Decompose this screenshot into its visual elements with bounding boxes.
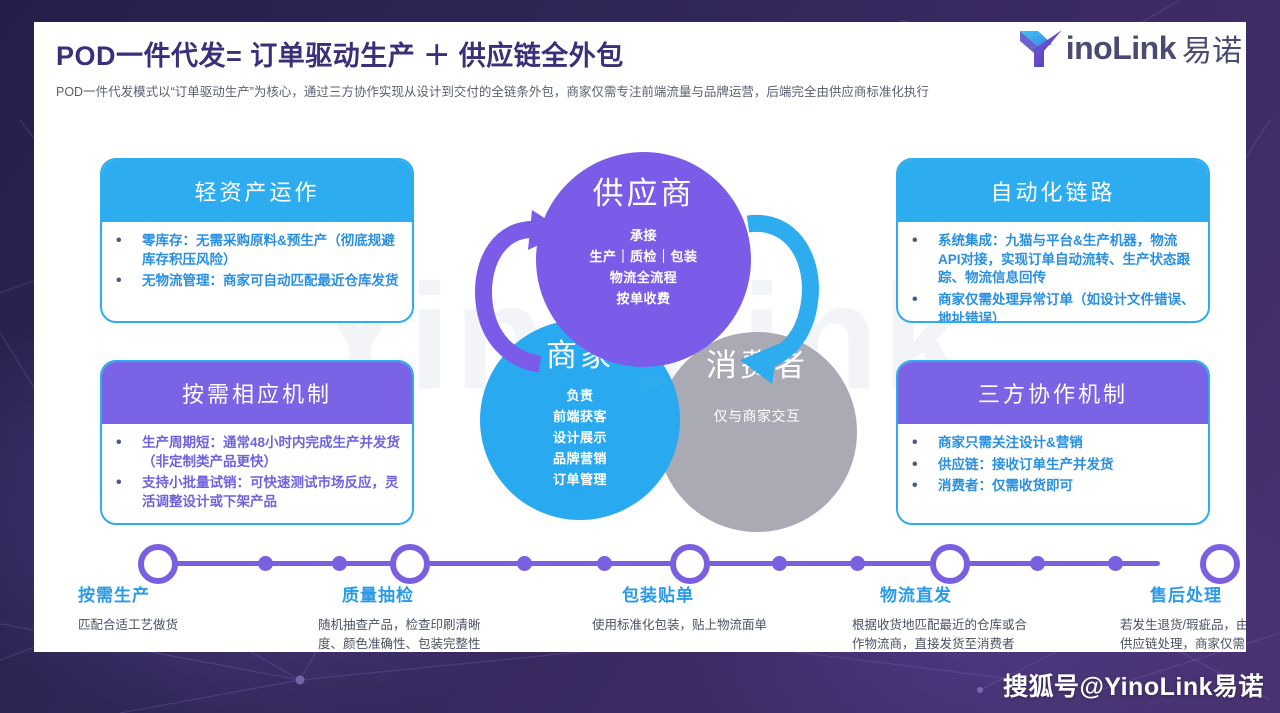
card-title-light-asset: 轻资产运作 (102, 160, 412, 222)
feature-card-on-demand: 按需相应机制 生产周期短：通常48小时内完成生产并发货（非定制类产品更快） 支持… (100, 360, 414, 525)
circle-consumer: 消费者 仅与商家交互 (657, 332, 857, 532)
page-subtitle: POD一件代发模式以“订单驱动生产”为核心，通过三方协作实现从设计到交付的全链条… (56, 82, 1106, 102)
venn-diagram: 供应商 承接 生产｜质检｜包装 物流全流程 按单收费 商家 负责 前端获客 设计… (454, 152, 874, 542)
circle-lines-merchant: 负责 前端获客 设计展示 品牌营销 订单管理 (553, 385, 607, 490)
timeline-node-2[interactable] (390, 544, 430, 584)
circle-line: 品牌营销 (553, 448, 607, 469)
feature-card-automation: 自动化链路 系统集成：九猫与平台&生产机器，物流API对接，实现订单自动流转、生… (896, 158, 1210, 323)
circle-line: 订单管理 (553, 469, 607, 490)
circle-line: 设计展示 (553, 427, 607, 448)
timeline-minor-dot (258, 556, 273, 571)
timeline-minor-dot (1108, 556, 1123, 571)
circle-line: 仅与商家交互 (714, 405, 801, 428)
timeline-step-1: 按需生产 匹配合适工艺做货 (78, 586, 278, 635)
card-body-tripartite: 商家只需关注设计&营销 供应链：接收订单生产并发货 消费者：仅需收货即可 (898, 424, 1208, 509)
timeline-minor-dot (597, 556, 612, 571)
list-item: 支持小批量试销：可快速测试市场反应，灵活调整设计或下架产品 (110, 474, 400, 511)
yino-y-logo-icon (1018, 27, 1064, 69)
card-title-on-demand: 按需相应机制 (102, 362, 412, 424)
timeline-node-3[interactable] (670, 544, 710, 584)
circle-line: 承接 (589, 225, 697, 246)
logo-wordmark-cn: 易诺 (1182, 26, 1242, 70)
timeline-step-desc: 若发生退货/瑕疵品，由供应链处理，商家仅需和客户沟通 (1120, 616, 1246, 652)
timeline-step-desc: 使用标准化包装，贴上物流面单 (592, 616, 772, 635)
timeline-track (138, 561, 1160, 566)
list-item: 零库存：无需采购原料&预生产（彻底规避库存积压风险） (110, 232, 400, 269)
card-body-light-asset: 零库存：无需采购原料&预生产（彻底规避库存积压风险） 无物流管理：商家可自动匹配… (102, 222, 412, 304)
card-title-tripartite: 三方协作机制 (898, 362, 1208, 424)
brand-logo: inoLink 易诺 (1018, 26, 1242, 70)
bottom-right-watermark: 搜狐号@YinoLink易诺 (1003, 667, 1264, 703)
timeline-node-1[interactable] (138, 544, 178, 584)
card-title-automation: 自动化链路 (898, 160, 1208, 222)
circle-line: 生产｜质检｜包装 (589, 246, 697, 267)
list-item: 无物流管理：商家可自动匹配最近仓库发货 (110, 272, 400, 291)
list-item: 商家只需关注设计&营销 (906, 434, 1196, 453)
card-body-on-demand: 生产周期短：通常48小时内完成生产并发货（非定制类产品更快） 支持小批量试销：可… (102, 424, 412, 525)
timeline-step-desc: 根据收货地匹配最近的仓库或合作物流商，直接发货至消费者 (852, 616, 1032, 652)
logo-wordmark: inoLink (1066, 32, 1176, 64)
timeline-step-desc: 匹配合适工艺做货 (78, 616, 258, 635)
list-item: 商家仅需处理异常订单（如设计文件错误、地址错误） (906, 291, 1196, 323)
timeline-minor-dot (332, 556, 347, 571)
circle-title-consumer: 消费者 (706, 350, 808, 383)
circle-supplier: 供应商 承接 生产｜质检｜包装 物流全流程 按单收费 (536, 152, 751, 367)
timeline-step-label: 按需生产 (78, 586, 278, 606)
process-timeline: 按需生产 匹配合适工艺做货 质量抽检 随机抽查产品，检查印刷清晰度、颜色准确性、… (62, 530, 1226, 650)
circle-lines-supplier: 承接 生产｜质检｜包装 物流全流程 按单收费 (589, 225, 697, 309)
timeline-minor-dot (1030, 556, 1045, 571)
circle-title-supplier: 供应商 (593, 178, 695, 211)
timeline-minor-dot (517, 556, 532, 571)
circle-line: 负责 (553, 385, 607, 406)
timeline-step-label: 包装贴单 (622, 586, 792, 606)
circle-line: 物流全流程 (589, 267, 697, 288)
timeline-step-label: 售后处理 (1150, 586, 1246, 606)
timeline-step-desc: 随机抽查产品，检查印刷清晰度、颜色准确性、包装完整性 (318, 616, 498, 652)
list-item: 系统集成：九猫与平台&生产机器，物流API对接，实现订单自动流转、生产状态跟踪、… (906, 232, 1196, 288)
timeline-step-2: 质量抽检 随机抽查产品，检查印刷清晰度、颜色准确性、包装完整性 (318, 586, 518, 652)
card-body-automation: 系统集成：九猫与平台&生产机器，物流API对接，实现订单自动流转、生产状态跟踪、… (898, 222, 1208, 323)
circle-line: 按单收费 (589, 288, 697, 309)
timeline-step-5: 售后处理 若发生退货/瑕疵品，由供应链处理，商家仅需和客户沟通 (1120, 586, 1246, 652)
timeline-step-3: 包装贴单 使用标准化包装，贴上物流面单 (592, 586, 792, 635)
timeline-node-4[interactable] (930, 544, 970, 584)
timeline-minor-dot (772, 556, 787, 571)
timeline-step-4: 物流直发 根据收货地匹配最近的仓库或合作物流商，直接发货至消费者 (852, 586, 1052, 652)
circle-lines-consumer: 仅与商家交互 (714, 405, 801, 428)
list-item: 生产周期短：通常48小时内完成生产并发货（非定制类产品更快） (110, 434, 400, 471)
timeline-step-label: 物流直发 (880, 586, 1052, 606)
circle-line: 前端获客 (553, 406, 607, 427)
feature-card-tripartite: 三方协作机制 商家只需关注设计&营销 供应链：接收订单生产并发货 消费者：仅需收… (896, 360, 1210, 525)
list-item: 供应链：接收订单生产并发货 (906, 456, 1196, 475)
feature-card-light-asset: 轻资产运作 零库存：无需采购原料&预生产（彻底规避库存积压风险） 无物流管理：商… (100, 158, 414, 323)
timeline-step-label: 质量抽检 (342, 586, 518, 606)
list-item: 消费者：仅需收货即可 (906, 477, 1196, 496)
slide-card: YinoLink POD一件代发= 订单驱动生产 ＋ 供应链全外包 POD一件代… (34, 22, 1246, 652)
timeline-minor-dot (850, 556, 865, 571)
timeline-node-5[interactable] (1200, 544, 1240, 584)
